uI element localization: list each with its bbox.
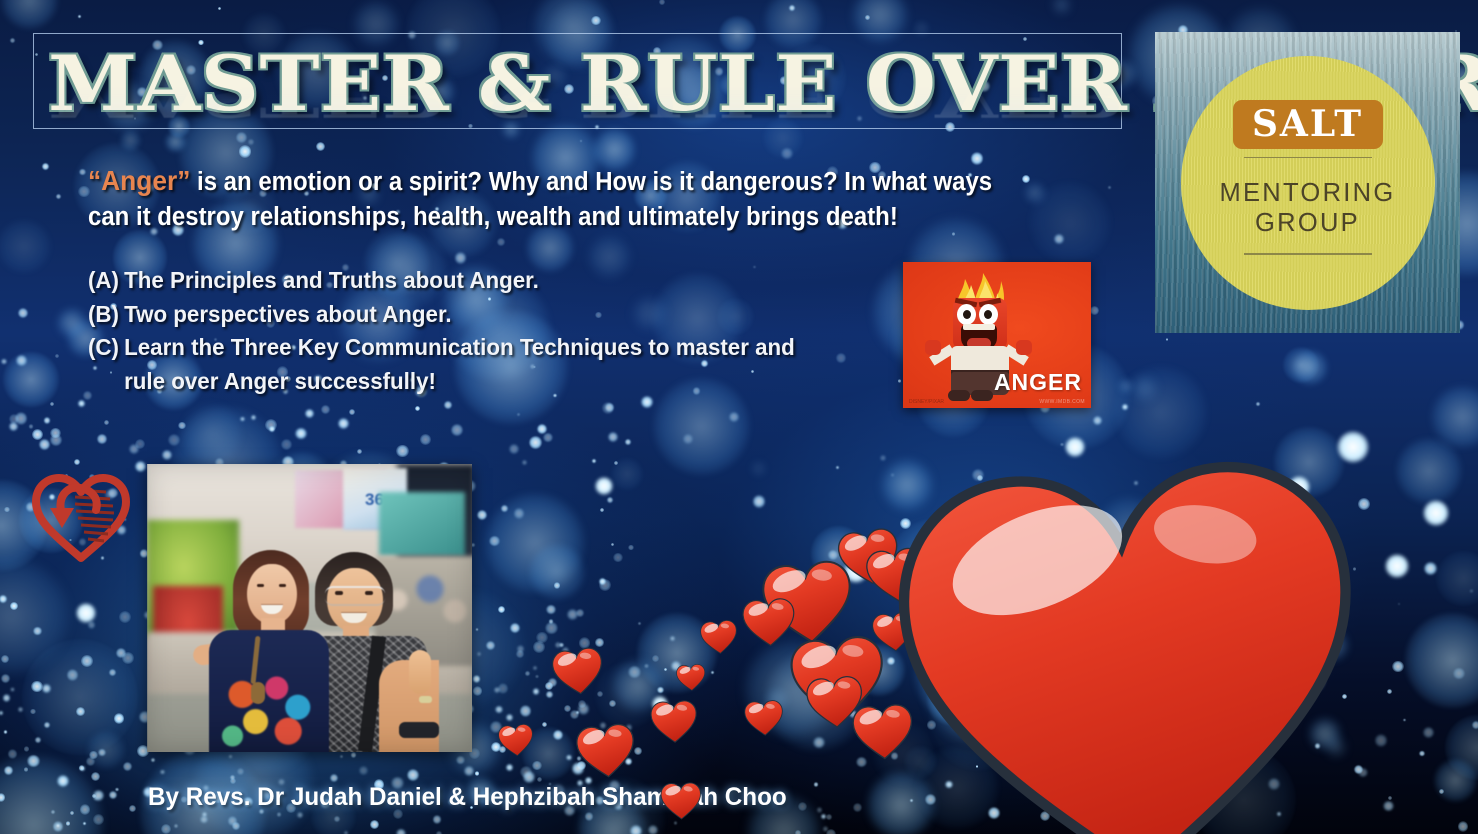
salt-badge: SALT (1233, 100, 1383, 149)
logo-subtitle-line1: MENTORING (1219, 178, 1395, 208)
list-item: (A) The Principles and Truths about Ange… (88, 264, 943, 298)
lead-keyword: “Anger” (88, 165, 190, 196)
lead-paragraph: “Anger” is an emotion or a spirit? Why a… (88, 163, 1037, 235)
presentation-slide: MASTER & RULE OVER ANGER MASTER & RULE O… (0, 0, 1478, 834)
heart-shape (573, 721, 638, 781)
heart-shape (649, 699, 699, 745)
list-item: (B) Two perspectives about Anger. (88, 298, 943, 332)
heart-shape (699, 618, 740, 655)
logo-circle: SALT MENTORING GROUP (1181, 56, 1435, 310)
logo-divider-bottom (1244, 253, 1372, 255)
title-reflection: MASTER & RULE OVER ANGER (48, 78, 1182, 128)
heart-shape (497, 722, 536, 757)
agenda-list: (A) The Principles and Truths about Ange… (88, 264, 943, 398)
anger-label: ANGER (994, 371, 1082, 394)
list-item-label: Learn the Three Key Communication Techni… (124, 331, 795, 365)
speakers-photo: 36 (147, 464, 472, 752)
heart-shape (659, 781, 702, 820)
logo-divider-top (1244, 157, 1372, 159)
anger-credit-right: WWW.IMDB.COM (1039, 399, 1085, 405)
anger-credit-left: DISNEY/PIXAR (909, 399, 944, 405)
list-item: (C) Learn the Three Key Communication Te… (88, 331, 943, 365)
heart-shape (804, 674, 866, 731)
heart-shape (675, 663, 707, 692)
list-item-label: The Principles and Truths about Anger. (124, 264, 539, 298)
heart-shape (743, 699, 785, 738)
heart-with-arrow-icon (28, 466, 134, 562)
anger-character-image: ANGER WWW.IMDB.COM DISNEY/PIXAR (903, 262, 1091, 408)
list-item-label: Two perspectives about Anger. (124, 298, 452, 332)
logo-subtitle-line2: GROUP (1219, 208, 1395, 238)
heart-shape (881, 444, 1379, 834)
list-item-marker: (C) (88, 331, 124, 365)
lead-rest: is an emotion or a spirit? Why and How i… (88, 168, 992, 231)
salt-badge-label: SALT (1252, 106, 1363, 142)
salt-mentoring-group-logo: SALT MENTORING GROUP (1155, 32, 1460, 333)
logo-subtitle: MENTORING GROUP (1219, 178, 1395, 238)
list-item-marker: (A) (88, 264, 124, 298)
list-item-continuation: rule over Anger successfully! (88, 365, 943, 399)
heart-shape (549, 645, 606, 698)
list-item-marker: (B) (88, 298, 124, 332)
